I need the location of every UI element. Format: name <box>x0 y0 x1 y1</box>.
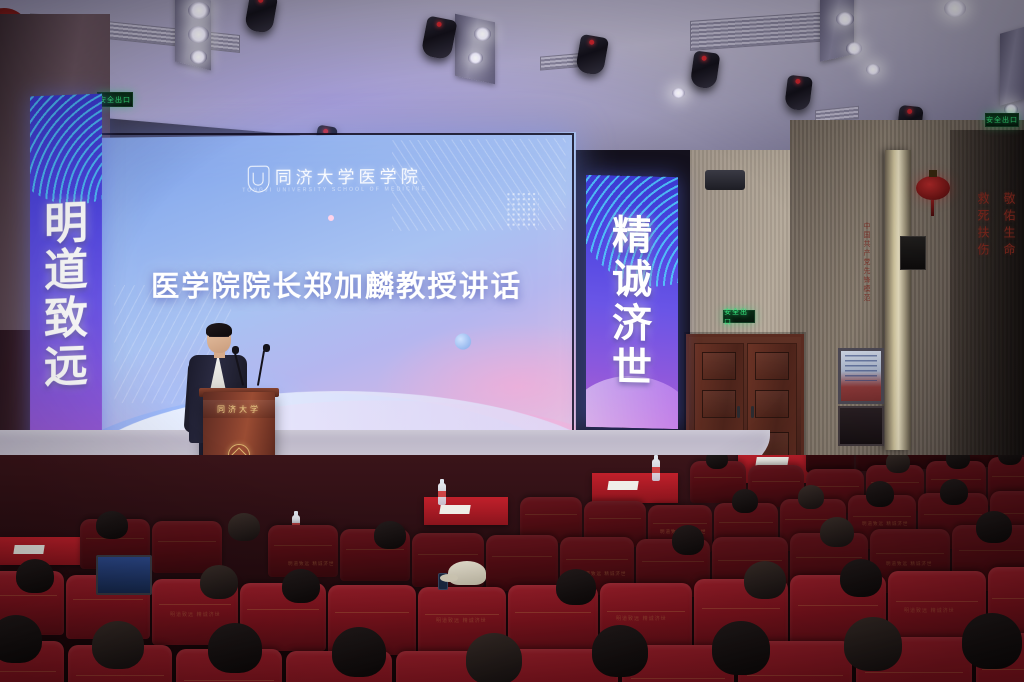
recessed-light-3 <box>190 50 207 64</box>
notice-board-text-lines <box>845 355 877 381</box>
audience-head <box>96 511 128 539</box>
exit-sign-left: 安全出口 <box>97 92 133 107</box>
banner-right-char-2: 诚 <box>612 258 652 303</box>
seat-embroidery: 明道致远 精诚济世 <box>288 561 334 567</box>
banner-right-char-1: 精 <box>612 214 652 259</box>
banner-left-char-2: 道 <box>44 247 88 296</box>
glasses-icon <box>209 336 229 341</box>
podium-name-band: 同济大学 <box>203 400 275 418</box>
screen-orb-1 <box>455 333 471 349</box>
wall-right-shadow <box>950 130 1024 460</box>
recessed-light-6 <box>836 12 854 26</box>
audience-head <box>672 525 704 555</box>
school-logo-cn: 同济大学医学院 <box>275 169 422 187</box>
recessed-light-9 <box>866 64 880 75</box>
banner-left-char-1: 明 <box>44 199 88 248</box>
recessed-light-5 <box>468 52 483 64</box>
seat-embroidery: 明道致远 精诚济世 <box>904 607 955 614</box>
recessed-light-10 <box>672 88 685 98</box>
banner-right-char-3: 济 <box>612 302 652 347</box>
exit-sign-center: 安全出口 <box>723 310 755 323</box>
wall-slogan-right-text: 救死扶伤 <box>975 192 992 260</box>
exit-sign-center-text: 安全出口 <box>724 307 754 327</box>
audience-head <box>886 455 910 473</box>
led-banner-right-text: 精 诚 济 世 <box>586 175 678 429</box>
audience-head <box>16 559 54 593</box>
main-led-screen: 同济大学医学院 TONGJI UNIVERSITY SCHOOL OF MEDI… <box>101 132 576 443</box>
audience-head <box>332 627 386 677</box>
seat-embroidery: 明道致远 精诚济世 <box>886 561 932 567</box>
ceiling-speaker-icon <box>705 170 745 190</box>
exit-sign-left-text: 安全出口 <box>99 95 131 105</box>
microphone-icon-2 <box>263 344 270 352</box>
wall-slogan: 救死扶伤 敬佑生命 <box>975 192 1018 260</box>
banner-right-char-4: 世 <box>612 346 652 391</box>
audience-head <box>228 513 260 541</box>
banner-left-char-3: 致 <box>44 294 88 343</box>
table-paper-2 <box>607 481 638 490</box>
table-paper-3 <box>439 505 470 514</box>
audience-head <box>840 559 882 597</box>
led-banner-right: 精 诚 济 世 <box>586 175 678 429</box>
seat-embroidery: 明道致远 精诚济世 <box>616 615 667 622</box>
screen-orb-2 <box>328 215 334 221</box>
screen-title: 医学院院长郑加麟教授讲话 <box>101 263 576 306</box>
audience-head <box>798 485 824 509</box>
microphone-icon <box>232 346 239 354</box>
podium-text: 同济大学 <box>217 404 261 415</box>
water-bottle-3 <box>438 483 446 505</box>
recessed-light-4 <box>474 27 491 41</box>
audience-head <box>556 569 596 605</box>
seat-embroidery: 明道致远 精诚济世 <box>436 617 487 624</box>
wall-vertical-small-text: 中国共产党先锋模范 <box>862 222 872 303</box>
audience-head <box>712 621 770 675</box>
auditorium-photo: 救死扶伤 敬佑生命 中国共产党先锋模范 安全出口 安全出口 安全出口 <box>0 0 1024 682</box>
door-handle-icon[interactable] <box>751 406 754 418</box>
laptop-screen <box>96 555 152 595</box>
door-panel <box>702 390 736 418</box>
speaker-hair <box>206 323 232 337</box>
ceiling-beam-4 <box>1000 26 1024 105</box>
ceiling-beam-2 <box>455 14 495 85</box>
lantern-tassel <box>931 200 934 216</box>
recessed-light-2 <box>188 26 209 43</box>
exit-sign-right: 安全出口 <box>985 113 1019 127</box>
water-bottle-2 <box>652 459 660 481</box>
audience-head <box>866 481 894 507</box>
audience-head <box>962 613 1022 669</box>
screen-dot-grid <box>506 191 539 226</box>
door-panel <box>702 352 736 380</box>
audience-head <box>820 517 854 547</box>
wall-speaker-box <box>900 236 926 270</box>
recessed-light-7 <box>846 42 862 55</box>
audience-head <box>744 561 786 599</box>
door-panel <box>755 390 789 418</box>
seat <box>486 535 558 591</box>
seat-embroidery: 明道致远 精诚济世 <box>170 611 221 618</box>
wall-cabinet <box>838 406 884 446</box>
table-paper-4 <box>13 545 44 554</box>
audience-head <box>976 511 1012 543</box>
audience-head <box>592 625 648 677</box>
decorative-pillar <box>885 150 911 450</box>
door-panel <box>755 352 789 380</box>
audience-head <box>200 565 238 599</box>
door-handle-icon[interactable] <box>737 406 740 418</box>
audience-head <box>208 623 262 673</box>
notice-board-icon <box>838 348 884 404</box>
exit-sign-right-text: 安全出口 <box>986 115 1018 125</box>
banner-left-char-4: 远 <box>44 342 88 391</box>
audience-head <box>282 569 320 603</box>
baseball-cap <box>448 561 486 585</box>
seat-embroidery: 明道致远 精诚济世 <box>862 521 908 527</box>
audience-head <box>706 455 728 469</box>
audience-seating-area: 明道致远 精诚济世 明道致远 精诚济世 明道致远 精诚济世 明道致远 精诚济世 … <box>0 455 1024 682</box>
audience-head <box>732 489 758 513</box>
audience-head <box>940 479 968 505</box>
audience-head <box>466 633 522 682</box>
recessed-light-8 <box>944 0 966 17</box>
audience-head <box>844 617 902 671</box>
audience-head <box>92 621 144 669</box>
wall-slogan-left-text: 敬佑生命 <box>1001 192 1018 260</box>
recessed-light-1 <box>188 2 210 19</box>
red-lantern-icon <box>916 176 950 200</box>
audience-head <box>374 521 406 549</box>
